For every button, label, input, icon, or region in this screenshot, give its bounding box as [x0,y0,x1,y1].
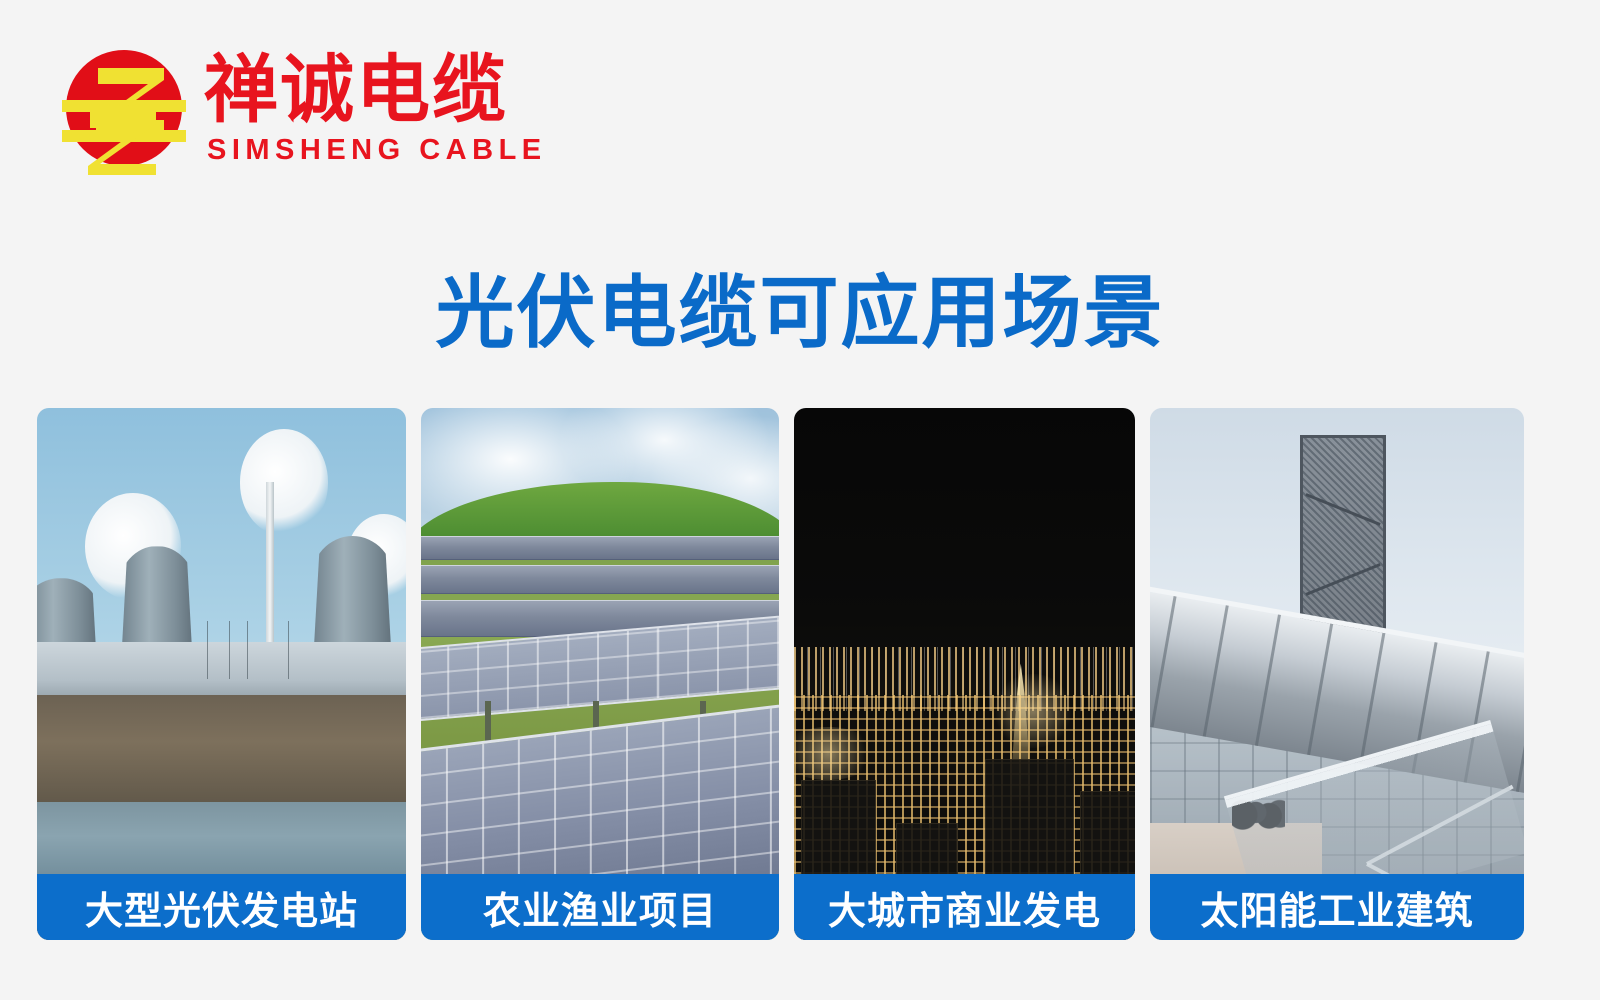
scenario-card-agri-fishery[interactable]: 农业渔业项目 [421,408,779,940]
scenario-card-metropolis[interactable]: 大城市商业发电 [794,408,1135,940]
scenario-card-power-station[interactable]: 大型光伏发电站 [37,408,406,940]
card-caption: 农业渔业项目 [421,874,779,940]
scenario-card-industrial-building[interactable]: 太阳能工业建筑 [1150,408,1524,940]
scenario-card-row: 大型光伏发电站 农业渔业项目 [37,408,1563,940]
brand-name-cn: 禅诚电缆 [204,54,547,127]
page-title: 光伏电缆可应用场景 [0,248,1600,363]
simsheng-zz-logo-icon [62,42,186,175]
card-caption: 大城市商业发电 [794,874,1135,940]
card-caption: 大型光伏发电站 [37,874,406,940]
industrial-building-photo [1150,408,1524,940]
solar-farm-photo [421,408,779,940]
night-city-photo [794,408,1135,940]
card-caption: 太阳能工业建筑 [1150,874,1524,940]
brand-name-en: SIMSHENG CABLE [207,134,547,167]
power-plant-photo [37,408,406,940]
brand-logo-block: 禅诚电缆 SIMSHENG CABLE [62,42,547,175]
brand-text: 禅诚电缆 SIMSHENG CABLE [204,54,547,168]
